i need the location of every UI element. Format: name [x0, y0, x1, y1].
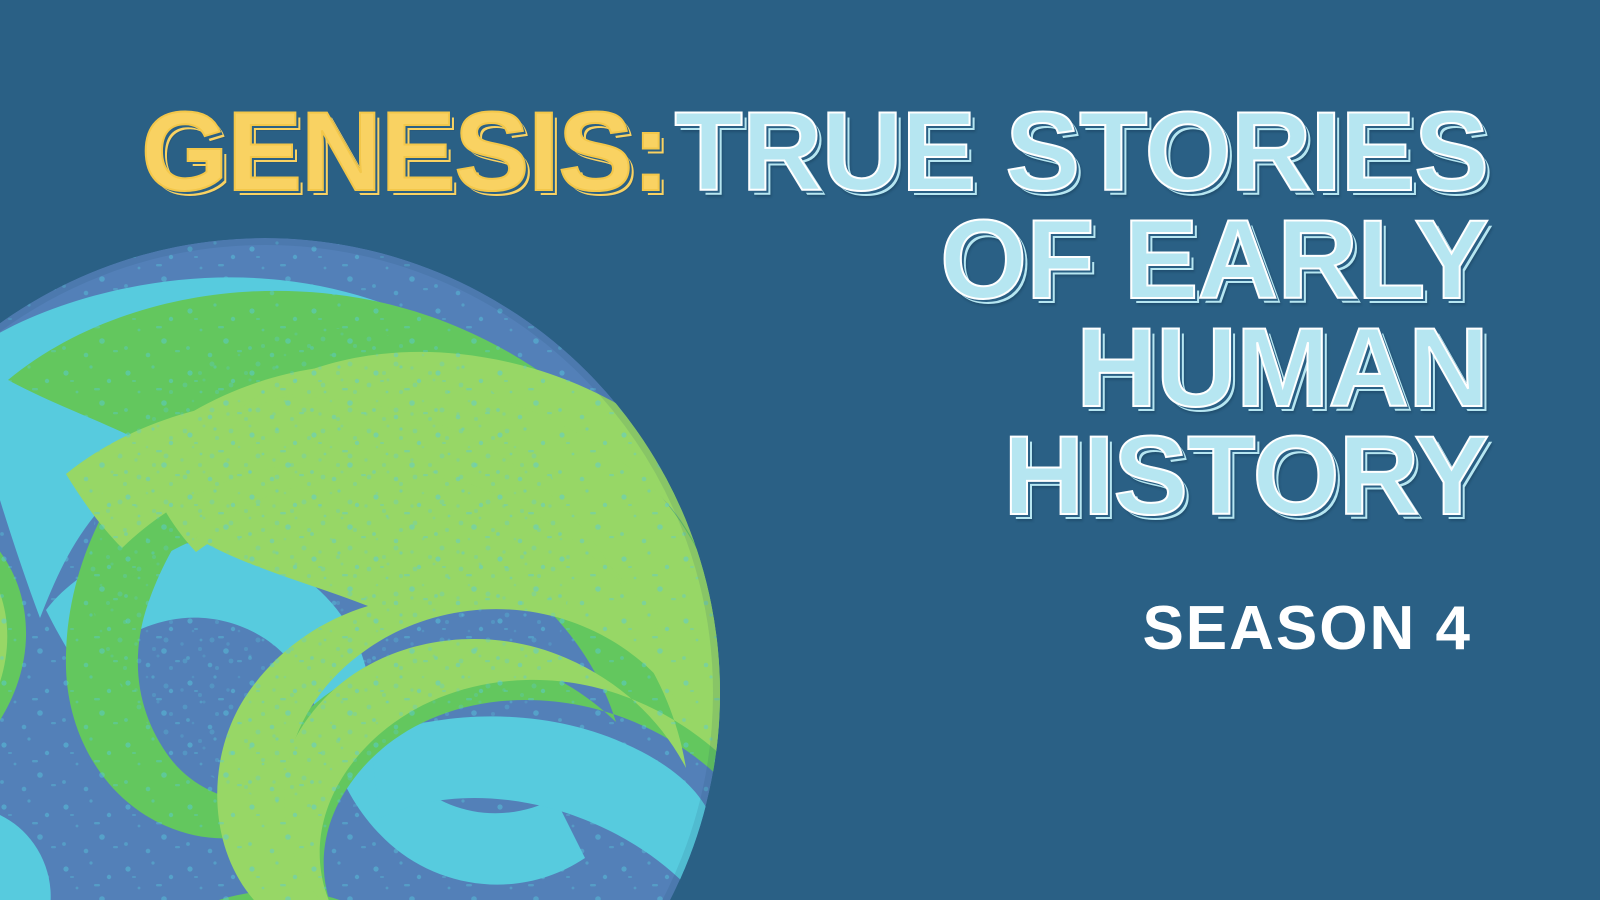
- title-word-true-stories: True Stories: [674, 89, 1488, 214]
- season-label: Season 4: [272, 598, 1472, 660]
- podcast-cover-poster: Genesis:True Stories of Early Human Hist…: [0, 0, 1600, 900]
- earth-globe-illustration: [0, 238, 720, 900]
- title-word-genesis: Genesis:: [141, 89, 674, 214]
- globe-texture-speckle-dense: [90, 328, 570, 808]
- title-line-1: Genesis:True Stories: [88, 96, 1488, 208]
